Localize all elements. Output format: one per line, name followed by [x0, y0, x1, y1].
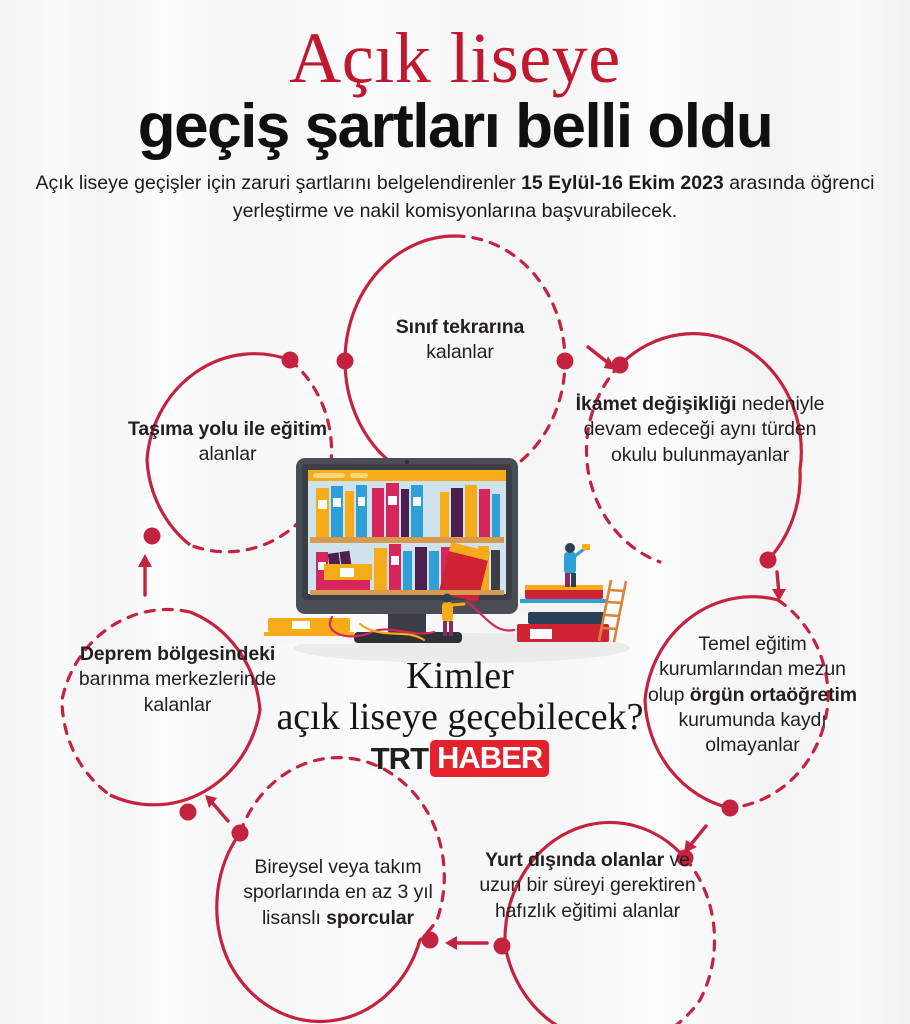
node-bold-deprem: Deprem bölgesindeki [80, 643, 275, 665]
flow-arrow-lowerright-to-lowerleft [445, 936, 487, 950]
flow-arrow-left-to-upperleft [138, 554, 152, 595]
node-label-sinif-tekrari: Sınıf tekrarına kalanlar [330, 315, 590, 366]
node-rest-deprem: barınma merkezlerinde kalanlar [79, 668, 276, 715]
node-bold-ikamet: İkamet değişikliği [576, 393, 737, 415]
node-bold-orgun-ortaogretim: örgün ortaöğretim [690, 684, 857, 706]
center-caption: Kimler açık liseye geçebilecek? [255, 656, 665, 738]
node-bold-tasima-yolu: Taşıma yolu ile eğitim [128, 418, 327, 440]
node-post-temel-egitim: kurumunda kaydı olmayanlar [678, 709, 826, 756]
monitor-icon [296, 458, 518, 643]
node-bold-yurt-disinda: Yurt dışında olanlar [485, 849, 664, 871]
flow-arrow-top-to-upperright [588, 347, 616, 370]
brand-logo-wrapper: TRTHABER [255, 740, 665, 777]
node-rest-sinif-tekrari: kalanlar [426, 341, 494, 363]
node-label-lisansli-sporcular: Bireysel veya takım sporlarında en az 3 … [228, 855, 448, 931]
trt-haber-logo: TRTHABER [371, 740, 550, 777]
node-bold-sinif-tekrari: Sınıf tekrarına [396, 316, 525, 338]
node-rest-tasima-yolu: alanlar [199, 443, 257, 465]
node-label-yurt-disinda: Yurt dışında olanlar ve uzun bir süreyi … [470, 848, 705, 924]
node-label-temel-egitim: Temel eğitim kurumlarından mezun olup ör… [645, 632, 860, 759]
book-yellow-left [264, 618, 354, 644]
center-caption-line2: açık liseye geçebilecek? [276, 696, 643, 738]
flow-arrow-lowerleft-to-left [205, 795, 228, 821]
node-bold-sporcular: sporcular [326, 907, 414, 929]
computer-bookshelf-illustration [262, 452, 662, 667]
person-figure-right [564, 543, 590, 587]
book-stack-right [517, 585, 609, 642]
infographic-poster: Açık liseye geçiş şartları belli oldu Aç… [0, 0, 910, 1024]
shelf-top-books [310, 483, 504, 543]
logo-trt-text: TRT [371, 743, 428, 774]
logo-haber-text: HABER [430, 740, 549, 777]
center-caption-line1: Kimler [406, 655, 514, 697]
flow-arrow-upperright-to-right [772, 572, 786, 601]
node-label-deprem-bolgesi: Deprem bölgesindeki barınma merkezlerind… [75, 642, 280, 718]
